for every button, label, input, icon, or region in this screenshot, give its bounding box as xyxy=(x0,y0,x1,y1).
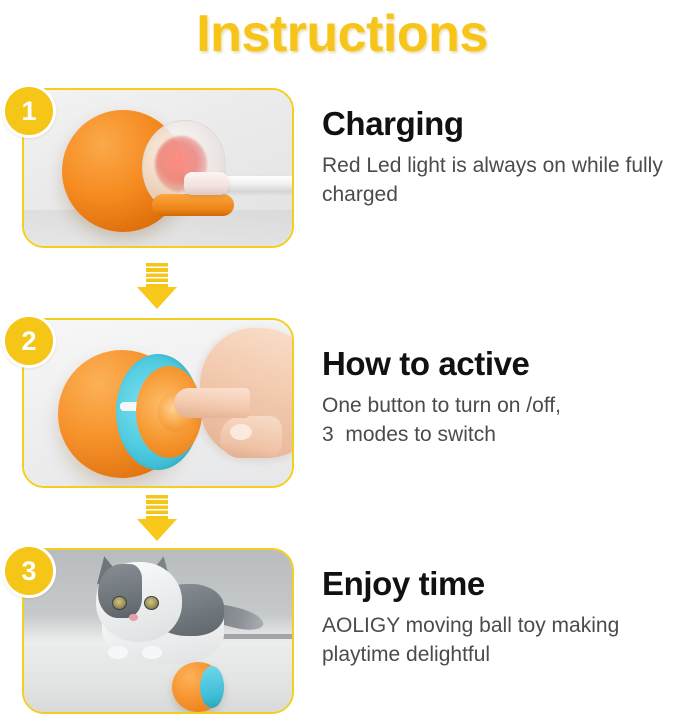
step-2-description: One button to turn on /off, 3 modes to s… xyxy=(322,391,682,449)
thumb xyxy=(220,416,282,458)
instruction-step-3: 3 Enjoy time AOLIGY moving ball toy maki… xyxy=(0,548,684,714)
arrow-shaft xyxy=(146,263,168,288)
step-1-photo-card xyxy=(22,88,294,248)
step-2-number-badge: 2 xyxy=(2,314,56,368)
down-arrow-icon xyxy=(137,495,177,541)
orange-side-tab xyxy=(152,194,234,216)
step-3-number-badge: 3 xyxy=(2,544,56,598)
step-2-photo xyxy=(24,320,292,486)
kitten-eye-right xyxy=(144,596,159,610)
step-1-text: Charging Red Led light is always on whil… xyxy=(322,104,682,209)
arrow-head xyxy=(137,287,177,309)
arrow-head xyxy=(137,519,177,541)
kitten-paw-right xyxy=(142,646,162,659)
step-3-description: AOLIGY moving ball toy making playtime d… xyxy=(322,611,682,669)
step-1-number-badge: 1 xyxy=(2,84,56,138)
press-button-photo xyxy=(24,320,292,486)
instructions-infographic: Instructions 1 Charging Red Led light i xyxy=(0,0,684,720)
step-1-photo xyxy=(24,90,292,246)
step-1-title: Charging xyxy=(322,104,682,144)
usb-plug-icon xyxy=(184,172,228,195)
instruction-step-2: 2 How to active One button to turn on /o… xyxy=(0,318,684,488)
thumb-nail xyxy=(230,424,252,440)
kitten-nose xyxy=(129,614,138,621)
ball-toy-cyan-ring xyxy=(200,666,224,708)
step-3-title: Enjoy time xyxy=(322,564,682,604)
down-arrow-icon xyxy=(137,263,177,309)
kitten-eye-left xyxy=(112,596,127,610)
step-3-photo-card xyxy=(22,548,294,714)
step-2-text: How to active One button to turn on /off… xyxy=(322,344,682,449)
arrow-shaft xyxy=(146,495,168,520)
step-2-photo-card xyxy=(22,318,294,488)
index-finger xyxy=(174,388,250,418)
charging-ball-photo xyxy=(24,90,292,246)
step-2-title: How to active xyxy=(322,344,682,384)
instruction-step-1: 1 Charging Red Led light is always on wh… xyxy=(0,88,684,248)
step-3-text: Enjoy time AOLIGY moving ball toy making… xyxy=(322,564,682,669)
step-1-description: Red Led light is always on while fully c… xyxy=(322,151,682,209)
kitten-paw-left xyxy=(108,646,128,659)
kitten-playing-photo xyxy=(24,550,292,712)
step-3-photo xyxy=(24,550,292,712)
page-title: Instructions xyxy=(0,2,684,66)
